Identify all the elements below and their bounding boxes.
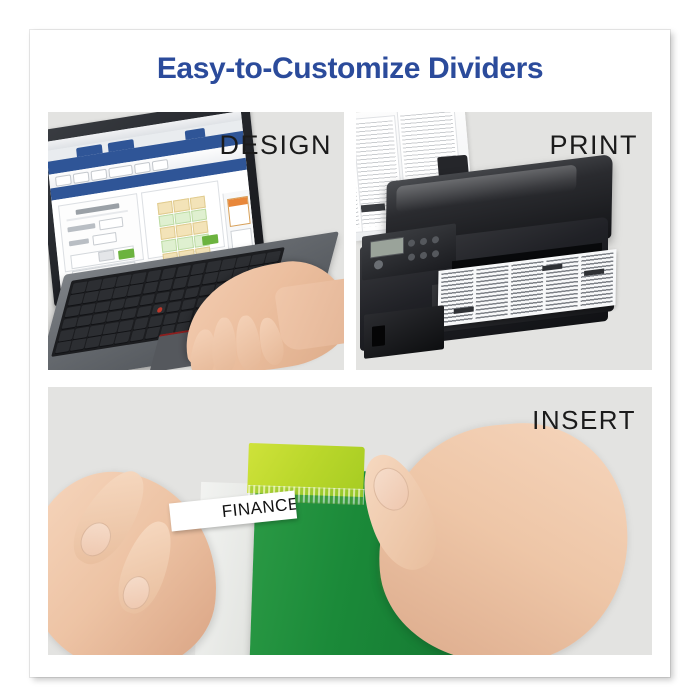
printed-column bbox=[511, 261, 544, 315]
label-strip-text: FINANCE bbox=[221, 494, 297, 522]
forearm bbox=[274, 276, 344, 352]
printed-column bbox=[441, 270, 474, 324]
printer-button[interactable] bbox=[432, 250, 439, 258]
product-image-card: Easy-to-Customize Dividers bbox=[30, 30, 670, 677]
form-input bbox=[92, 232, 117, 246]
printer-button[interactable] bbox=[408, 239, 415, 247]
panel-design: DESIGN bbox=[48, 112, 344, 370]
page-title: Easy-to-Customize Dividers bbox=[30, 52, 670, 86]
panel-insert: FINANCE INSERT bbox=[48, 387, 652, 655]
printed-column bbox=[581, 252, 614, 306]
printed-column bbox=[476, 265, 509, 319]
panel-label-design: DESIGN bbox=[219, 130, 332, 161]
fingernail bbox=[118, 572, 154, 613]
form-input bbox=[99, 217, 124, 231]
preview-next-button bbox=[202, 234, 219, 245]
fingernail bbox=[74, 517, 117, 562]
printer-button[interactable] bbox=[432, 236, 439, 244]
hand-right bbox=[368, 415, 638, 655]
panel-print: PRINT bbox=[356, 112, 652, 370]
panel-label-insert: INSERT bbox=[532, 405, 636, 436]
form-field-label bbox=[69, 238, 89, 246]
printer-lcd-display bbox=[370, 237, 404, 259]
printer-button[interactable] bbox=[408, 253, 415, 261]
printer-memory-card-slot bbox=[372, 325, 385, 347]
form-field-label bbox=[67, 223, 95, 232]
fingernail bbox=[367, 463, 415, 516]
thumbnail-header bbox=[228, 197, 247, 207]
template-preview-panel bbox=[141, 180, 225, 259]
template-thumbnail bbox=[227, 196, 251, 227]
options-form-panel bbox=[58, 193, 144, 272]
panel-label-print: PRINT bbox=[550, 130, 639, 161]
printer-button[interactable] bbox=[420, 237, 427, 245]
printer-power-button[interactable] bbox=[374, 260, 383, 270]
printer-button[interactable] bbox=[420, 251, 427, 259]
